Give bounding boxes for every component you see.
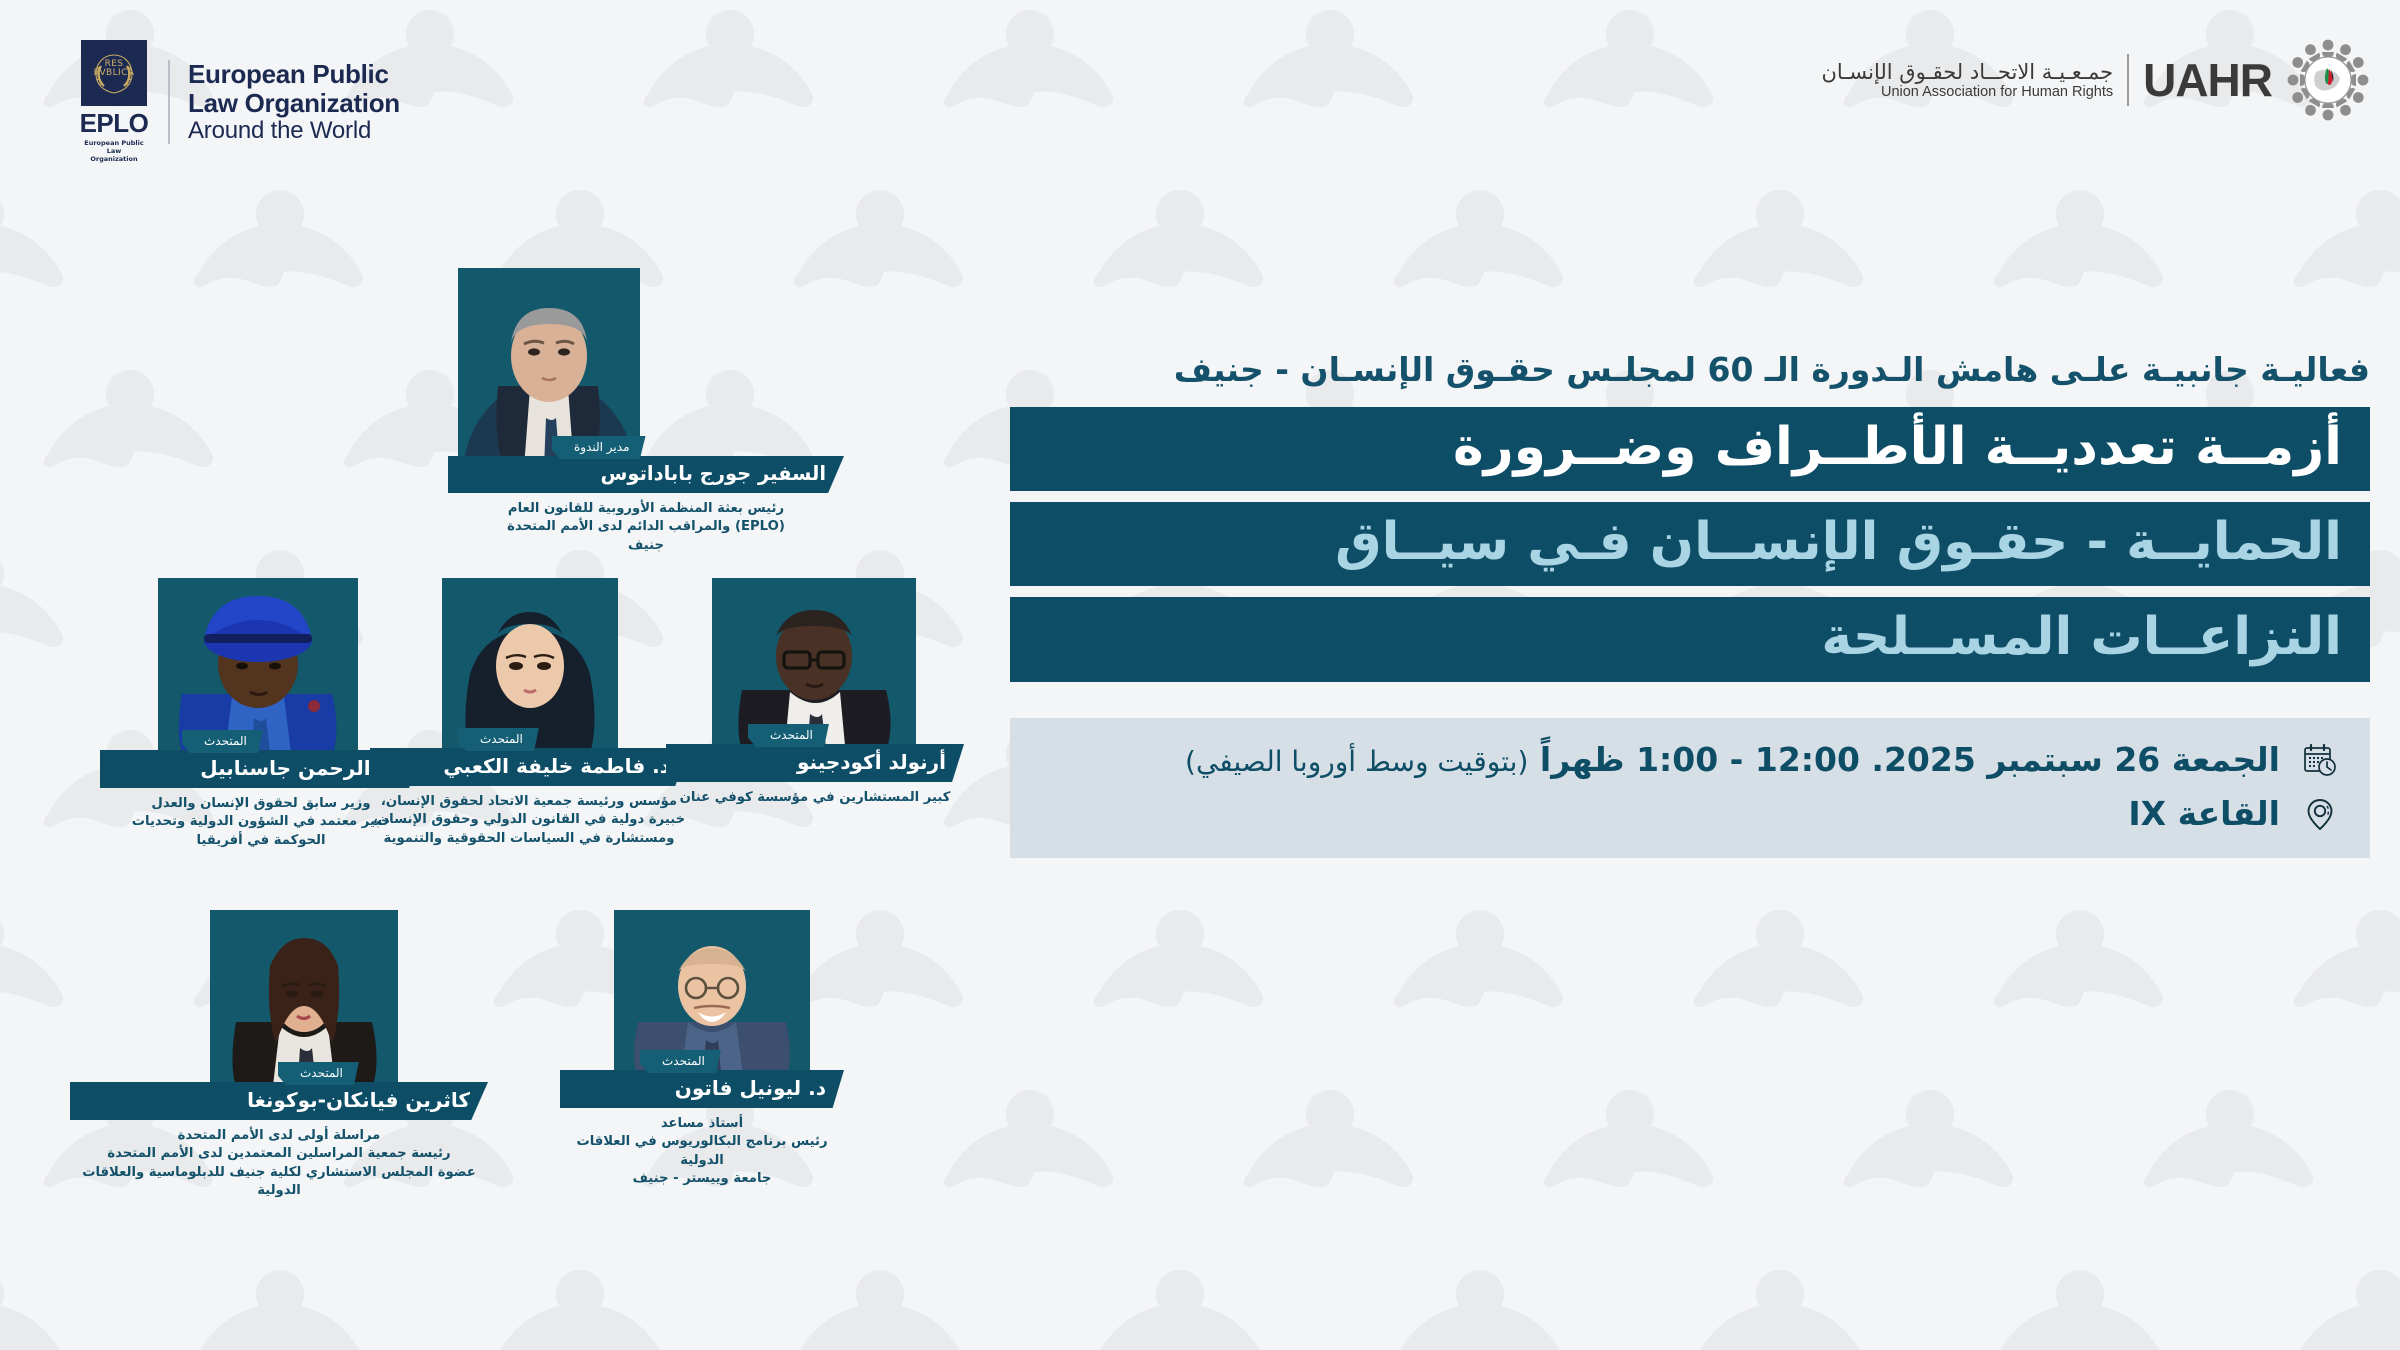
eplo-abbr-subtitle: European Public Law Organization xyxy=(78,139,150,163)
speaker-name-1: السفير جورج باباداتوس xyxy=(448,456,844,493)
event-kicker: فعاليـة جانبيـة علـى هامش الـدورة الـ 60… xyxy=(1010,350,2370,389)
speaker-card-5: المتحدث كاثرين فيانكان-بوكونغا مراسلة أو… xyxy=(70,910,488,1201)
speaker-ribbons-5: المتحدث كاثرين فيانكان-بوكونغا xyxy=(70,1062,488,1120)
uahr-logo: جمـعـيـة الاتحــاد لحقـوق الإنسـان Union… xyxy=(1821,38,2370,122)
eplo-logo: RES PVBLICA EPLO European Public Law Org… xyxy=(78,40,400,163)
uahr-wordmark: جمـعـيـة الاتحــاد لحقـوق الإنسـان Union… xyxy=(1821,60,2113,101)
eplo-word-line1: European Public xyxy=(188,61,400,87)
speaker-card-6: المتحدث د. ليونيل فاتون أستاذ مساعدرئيس … xyxy=(560,910,844,1189)
eplo-sub-line1: European Public Law xyxy=(78,139,150,155)
event-venue-text: القاعة IX xyxy=(2128,794,2280,833)
speaker-ribbons-1: مدير الندوة السفير جورج باباداتوس xyxy=(448,436,844,493)
event-title-line-2: الحمايــة - حقـوق الإنســان فـي سيــاق xyxy=(1010,502,2370,586)
calendar-clock-icon xyxy=(2298,738,2342,782)
speaker-ribbons-3: المتحدث د. فاطمة خليفة الكعبي xyxy=(370,728,688,786)
speaker-role-1: مدير الندوة xyxy=(552,436,646,459)
event-text-block: فعاليـة جانبيـة علـى هامش الـدورة الـ 60… xyxy=(1010,350,2370,858)
speaker-name-3: د. فاطمة خليفة الكعبي xyxy=(370,748,688,786)
speaker-bio-1: رئيس بعثة المنظمة الأوروبية للقانون العا… xyxy=(448,500,844,555)
eplo-word-line3: Around the World xyxy=(188,119,400,143)
uahr-abbr: UAHR xyxy=(2143,57,2272,103)
event-title-line-1: أزمــة تعدديــة الأطــراف وضــرورة xyxy=(1010,407,2370,491)
event-timezone: (بتوقيت وسط أوروبا الصيفي) xyxy=(1185,745,1528,778)
event-datetime-row: الجمعة 26 سبتمبر 2025. 12:00 - 1:00 ظهرا… xyxy=(1038,738,2342,782)
speaker-card-1: مدير الندوة السفير جورج باباداتوس رئيس ب… xyxy=(448,268,844,555)
speaker-bio-3: مؤسس ورئيسة جمعية الاتحاد لحقوق الإنسان،… xyxy=(370,793,688,848)
eplo-abbr: EPLO xyxy=(80,108,149,139)
speaker-role-6: المتحدث xyxy=(640,1050,721,1073)
speaker-name-4: أرنولد أكودجينو xyxy=(666,744,964,782)
speaker-bio-4: كبير المستشارين في مؤسسة كوفي عنان xyxy=(666,789,964,807)
speaker-name-6: د. ليونيل فاتون xyxy=(560,1070,844,1108)
event-datetime-text: الجمعة 26 سبتمبر 2025. 12:00 - 1:00 ظهرا… xyxy=(1185,740,2280,779)
uahr-divider xyxy=(2127,54,2129,106)
eplo-crest-icon: RES PVBLICA xyxy=(81,40,147,106)
speaker-ribbons-6: المتحدث د. ليونيل فاتون xyxy=(560,1050,844,1108)
location-pin-icon xyxy=(2298,792,2342,836)
uahr-arabic-name: جمـعـيـة الاتحــاد لحقـوق الإنسـان xyxy=(1821,60,2113,84)
logo-divider xyxy=(168,60,170,144)
speaker-ribbons-4: المتحدث أرنولد أكودجينو xyxy=(666,724,964,782)
eplo-wordmark: European Public Law Organization Around … xyxy=(188,61,400,143)
speaker-card-3: المتحدث د. فاطمة خليفة الكعبي مؤسس ورئيس… xyxy=(370,578,688,848)
uahr-emblem-icon xyxy=(2286,38,2370,122)
eplo-crest-line2: PVBLICA xyxy=(81,69,147,78)
speaker-bio-5: مراسلة أولى لدى الأمم المتحدةرئيسة جمعية… xyxy=(70,1127,488,1201)
speaker-role-3: المتحدث xyxy=(458,728,539,751)
eplo-sub-line2: Organization xyxy=(78,155,150,163)
event-info-panel: الجمعة 26 سبتمبر 2025. 12:00 - 1:00 ظهرا… xyxy=(1010,718,2370,858)
speaker-role-2: المتحدث xyxy=(182,730,263,753)
eplo-mark: RES PVBLICA EPLO European Public Law Org… xyxy=(78,40,150,163)
event-date-time: الجمعة 26 سبتمبر 2025. 12:00 - 1:00 ظهرا… xyxy=(1540,740,2280,779)
speaker-card-4: المتحدث أرنولد أكودجينو كبير المستشارين … xyxy=(666,578,964,807)
eplo-word-line2: Law Organization xyxy=(188,90,400,116)
speaker-role-4: المتحدث xyxy=(748,724,829,747)
speaker-bio-6: أستاذ مساعدرئيس برنامج البكالوريوس في ال… xyxy=(560,1115,844,1189)
event-title-line-3: النزاعــات المســلحة xyxy=(1010,597,2370,681)
uahr-english-name: Union Association for Human Rights xyxy=(1821,84,2113,101)
speaker-name-5: كاثرين فيانكان-بوكونغا xyxy=(70,1082,488,1120)
speaker-role-5: المتحدث xyxy=(278,1062,359,1085)
event-venue-row: القاعة IX xyxy=(1038,792,2342,836)
